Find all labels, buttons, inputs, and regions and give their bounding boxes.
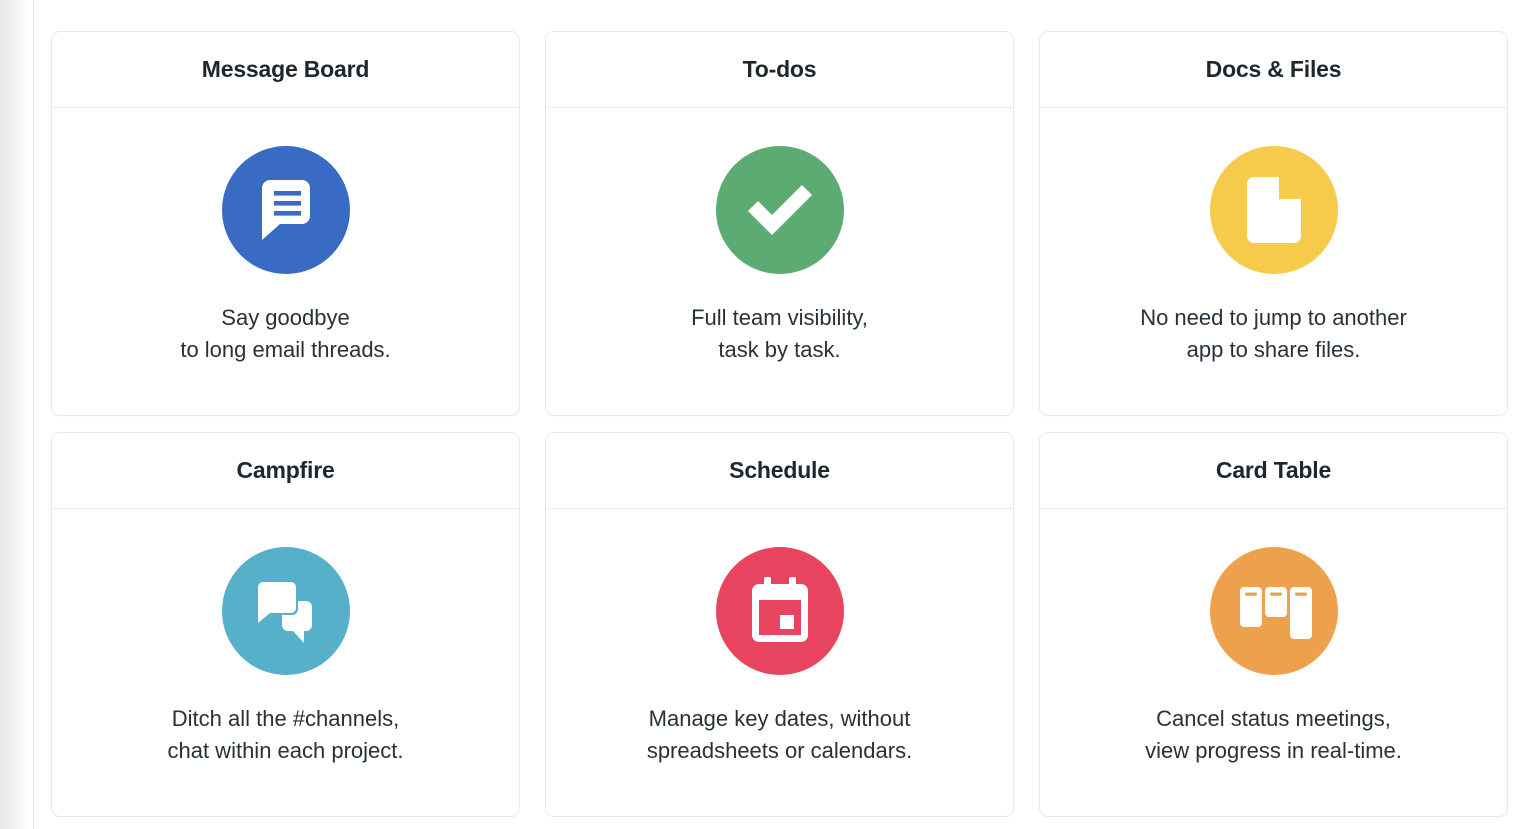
- card-header: Docs & Files: [1040, 32, 1507, 108]
- card-title: Campfire: [236, 457, 334, 484]
- card-description: Full team visibility, task by task.: [691, 302, 868, 366]
- card-body: Cancel status meetings, view progress in…: [1040, 509, 1507, 816]
- page-edge-divider: [33, 0, 34, 829]
- feature-card-to-dos[interactable]: To-dos Full team visibility, task by tas…: [545, 31, 1014, 416]
- card-title: To-dos: [743, 56, 817, 83]
- message-board-icon: [222, 146, 350, 274]
- card-title: Message Board: [202, 56, 369, 83]
- kanban-cards-icon: [1210, 547, 1338, 675]
- feature-card-schedule[interactable]: Schedule Manage key dates, without sprea…: [545, 432, 1014, 817]
- card-body: Ditch all the #channels, chat within eac…: [52, 509, 519, 816]
- card-description: Ditch all the #channels, chat within eac…: [167, 703, 403, 767]
- card-title: Docs & Files: [1206, 56, 1342, 83]
- card-header: To-dos: [546, 32, 1013, 108]
- card-header: Campfire: [52, 433, 519, 509]
- card-description: Cancel status meetings, view progress in…: [1145, 703, 1402, 767]
- chat-bubbles-icon: [222, 547, 350, 675]
- card-description: No need to jump to another app to share …: [1140, 302, 1407, 366]
- card-body: Full team visibility, task by task.: [546, 108, 1013, 415]
- feature-card-grid: Message Board Say goodbye to long email …: [51, 31, 1506, 817]
- calendar-icon: [716, 547, 844, 675]
- feature-card-card-table[interactable]: Card Table Cancel status meetings, view …: [1039, 432, 1508, 817]
- card-title: Schedule: [729, 457, 830, 484]
- feature-card-docs-and-files[interactable]: Docs & Files No need to jump to another …: [1039, 31, 1508, 416]
- card-header: Schedule: [546, 433, 1013, 509]
- feature-card-campfire[interactable]: Campfire Ditch all the #channels, chat w…: [51, 432, 520, 817]
- card-header: Card Table: [1040, 433, 1507, 509]
- card-body: No need to jump to another app to share …: [1040, 108, 1507, 415]
- card-body: Manage key dates, without spreadsheets o…: [546, 509, 1013, 816]
- checkmark-icon: [716, 146, 844, 274]
- page-edge-shadow: [0, 0, 34, 829]
- card-title: Card Table: [1216, 457, 1331, 484]
- card-body: Say goodbye to long email threads.: [52, 108, 519, 415]
- card-description: Say goodbye to long email threads.: [180, 302, 390, 366]
- document-icon: [1210, 146, 1338, 274]
- card-header: Message Board: [52, 32, 519, 108]
- feature-card-message-board[interactable]: Message Board Say goodbye to long email …: [51, 31, 520, 416]
- card-description: Manage key dates, without spreadsheets o…: [647, 703, 912, 767]
